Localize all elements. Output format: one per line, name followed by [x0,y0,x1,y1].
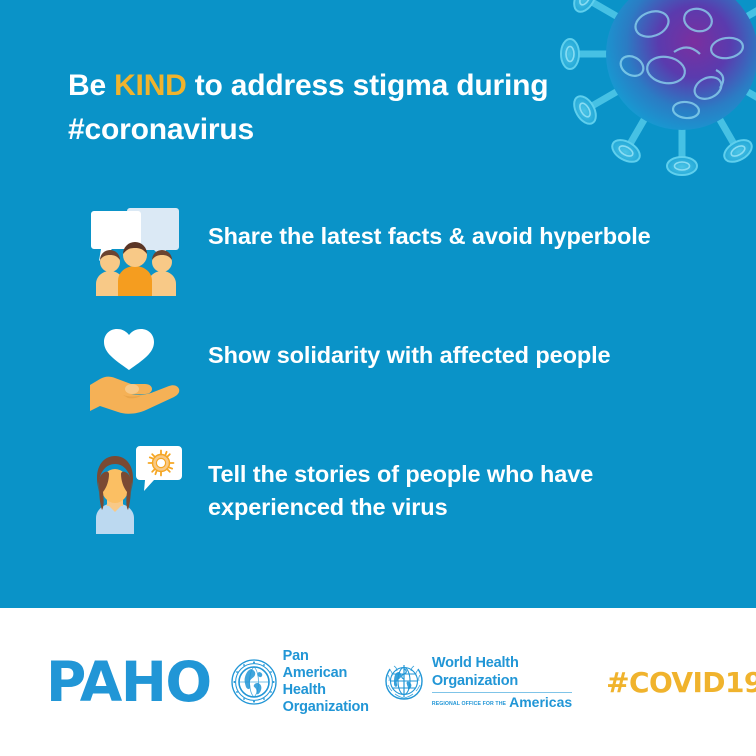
who-full-name: World Health Organization REGIONAL OFFIC… [432,655,572,709]
paho-logo-lockup: Pan American Health Organization [231,648,369,717]
paho-name-line-3: Organization [283,699,369,716]
who-region-prefix: REGIONAL OFFICE FOR THE [432,702,506,709]
list-item: Share the latest facts & avoid hyperbole [88,204,716,296]
list-item-label: Share the latest facts & avoid hyperbole [208,204,651,253]
who-region-label: REGIONAL OFFICE FOR THE Americas [432,692,572,709]
headline-before: Be [68,69,114,102]
speech-bubbles-people-icon [88,204,184,296]
list-item-label: Show solidarity with affected people [208,323,611,372]
who-name-line-1: World Health [432,655,572,672]
message-list: Share the latest facts & avoid hyperbole… [88,204,716,561]
page-title: Be KIND to address stigma during #corona… [68,64,628,152]
covid-hashtag: #COVID19 [606,666,756,699]
list-item-label: Tell the stories of people who have expe… [208,442,716,525]
heart-in-hand-icon [88,323,184,415]
paho-globe-seal-icon [231,659,277,705]
paho-acronym-logo: PAHO [46,655,211,710]
person-speech-virus-icon [88,442,184,534]
headline-after: to address stigma during [187,69,549,102]
stigma-awareness-poster: Be KIND to address stigma during #corona… [0,0,756,756]
headline-accent-word: KIND [114,69,187,102]
who-emblem-icon [381,659,427,705]
who-region-name: Americas [509,695,572,709]
headline-hashtag-line: #coronavirus [68,113,254,146]
who-logo-lockup: World Health Organization REGIONAL OFFIC… [381,655,572,709]
who-name-line-2: Organization [432,673,572,690]
paho-full-name: Pan American Health Organization [283,648,369,717]
paho-name-line-1: Pan American [283,648,369,683]
footer-bar: PAHO [0,608,756,756]
list-item: Show solidarity with affected people [88,323,716,415]
list-item: Tell the stories of people who have expe… [88,442,716,534]
paho-name-line-2: Health [283,682,369,699]
